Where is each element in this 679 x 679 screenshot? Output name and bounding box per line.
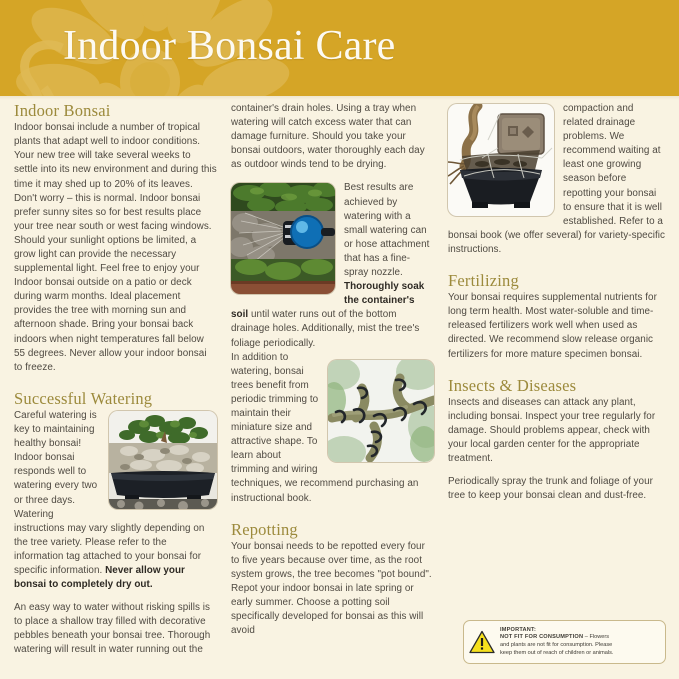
warning-bold: NOT FIT FOR CONSUMPTION	[500, 634, 583, 640]
photo-wired-branches	[328, 360, 434, 462]
best-results-rest: until water runs out of the bottom drain…	[231, 309, 419, 348]
important-warning-box: IMPORTANT: NOT FIT FOR CONSUMPTION – Flo…	[463, 620, 666, 664]
paragraph-fertilizing: Your bonsai requires supplemental nutrie…	[448, 291, 665, 361]
content-columns: Indoor Bonsai Indoor bonsai include a nu…	[0, 102, 679, 679]
photo-repotting-diagram	[448, 104, 554, 216]
paragraph-insects-1: Insects and diseases can attack any plan…	[448, 396, 665, 466]
column-2: container's drain holes. Using a tray wh…	[231, 102, 448, 679]
photo-bonsai-in-pot	[109, 411, 217, 509]
best-results-text: Best results are achieved by watering wi…	[344, 182, 429, 278]
heading-repotting: Repotting	[231, 521, 434, 539]
heading-fertilizing: Fertilizing	[448, 272, 665, 290]
header-divider	[0, 96, 679, 100]
warning-line-1: IMPORTANT:	[500, 627, 614, 635]
poster-page: Indoor Bonsai Care Indoor Bonsai Indoor …	[0, 0, 679, 679]
page-title: Indoor Bonsai Care	[63, 22, 396, 70]
warning-text-block: IMPORTANT: NOT FIT FOR CONSUMPTION – Flo…	[500, 627, 614, 657]
paragraph-repotting: Your bonsai needs to be repotted every f…	[231, 540, 434, 639]
warning-line-2: NOT FIT FOR CONSUMPTION – Flowers	[500, 634, 614, 642]
paragraph-insects-2: Periodically spray the trunk and foliage…	[448, 475, 665, 503]
warning-triangle-icon	[469, 630, 495, 654]
page-header: Indoor Bonsai Care	[0, 0, 679, 96]
column-3: compaction and related drainage problems…	[448, 102, 665, 679]
heading-successful-watering: Successful Watering	[14, 390, 217, 408]
photo-spray-nozzle	[231, 183, 335, 294]
paragraph-indoor-bonsai: Indoor bonsai include a number of tropic…	[14, 121, 217, 375]
warning-line-4: keep them out of reach of children or an…	[500, 650, 614, 658]
paragraph-drain-holes: container's drain holes. Using a tray wh…	[231, 102, 434, 172]
column-1: Indoor Bonsai Indoor bonsai include a nu…	[14, 102, 231, 679]
heading-indoor-bonsai: Indoor Bonsai	[14, 102, 217, 120]
warning-rest: – Flowers	[583, 634, 609, 640]
warning-line-3: and plants are not fit for consumption. …	[500, 642, 614, 650]
heading-insects-diseases: Insects & Diseases	[448, 377, 665, 395]
paragraph-watering-2: An easy way to water without risking spi…	[14, 601, 217, 657]
